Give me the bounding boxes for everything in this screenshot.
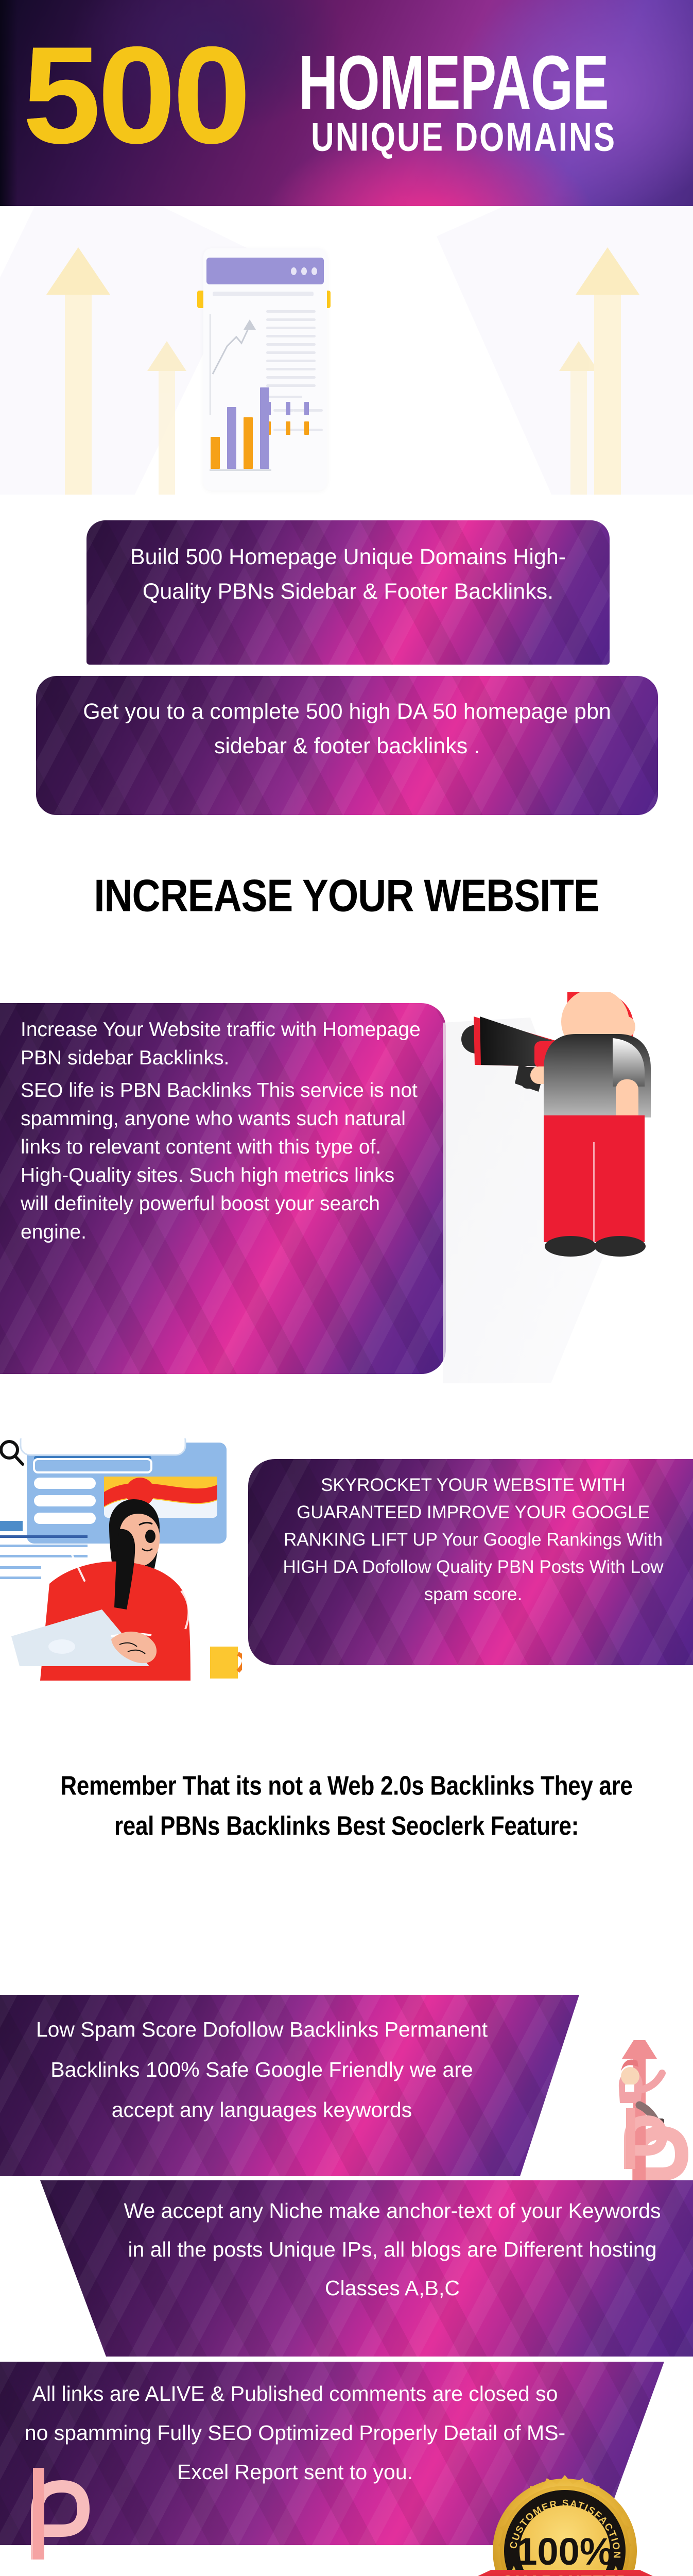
- browser-window-icon: [203, 248, 327, 490]
- hero-title-line1: HOMEPAGE: [299, 44, 609, 121]
- hero-number: 500: [23, 26, 248, 164]
- badge-percent: 100%: [516, 2530, 613, 2573]
- traffic-paragraph-1: Increase Your Website traffic with Homep…: [21, 1015, 423, 1072]
- section-heading-increase: INCREASE YOUR WEBSITE: [0, 871, 693, 920]
- intro-card-1-text: Build 500 Homepage Unique Domains High-Q…: [86, 520, 610, 609]
- section-heading-remember: Remember That its not a Web 2.0s Backlin…: [0, 1766, 693, 1846]
- intro-card-1: Build 500 Homepage Unique Domains High-Q…: [86, 520, 610, 665]
- feature-banner-2-text: We accept any Niche make anchor-text of …: [40, 2180, 693, 2308]
- guarantee-seal-icon: CUSTOMER SATISFACTION 100% GUARANTEED: [487, 2473, 643, 2576]
- woman-at-laptop-search-icon: [0, 1438, 242, 1681]
- hero-title-line2: UNIQUE DOMAINS: [311, 117, 616, 158]
- up-arrow-icon: [46, 247, 110, 495]
- browser-titlebar: [206, 258, 324, 284]
- feature-banner-1: Low Spam Score Dofollow Backlinks Perman…: [0, 1995, 579, 2176]
- intro-card-2: Get you to a complete 500 high DA 50 hom…: [36, 676, 658, 815]
- hero-illustration-band: [0, 206, 693, 495]
- traffic-paragraph-2: SEO life is PBN Backlinks This service i…: [21, 1076, 423, 1246]
- feature-banner-1-text: Low Spam Score Dofollow Backlinks Perman…: [0, 1995, 579, 2130]
- pink-arrow-icon: [617, 2108, 679, 2170]
- badge-ribbon-text: GUARANTEED: [501, 2572, 630, 2576]
- bar-chart: [210, 302, 323, 480]
- pink-arrow-icon: [24, 2468, 91, 2561]
- skyrocket-text: SKYROCKET YOUR WEBSITE WITH GUARANTEED I…: [248, 1459, 693, 1608]
- intro-card-2-text: Get you to a complete 500 high DA 50 hom…: [36, 676, 658, 764]
- traffic-card: Increase Your Website traffic with Homep…: [0, 1003, 446, 1374]
- skyrocket-card: SKYROCKET YOUR WEBSITE WITH GUARANTEED I…: [248, 1459, 693, 1665]
- badge-ribbon: GUARANTEED: [476, 2570, 655, 2576]
- up-trend-arrow-icon: [212, 316, 263, 378]
- up-arrow-icon: [576, 247, 639, 495]
- feature-banner-3-text: All links are ALIVE & Published comments…: [0, 2362, 664, 2492]
- hero-banner: 500 HOMEPAGE UNIQUE DOMAINS: [0, 0, 693, 206]
- feature-banner-2: We accept any Niche make anchor-text of …: [40, 2180, 693, 2357]
- infographic-page: 500 HOMEPAGE UNIQUE DOMAINS: [0, 0, 693, 2576]
- up-arrow-icon: [147, 341, 186, 495]
- megaphone-person-icon: [443, 992, 693, 1383]
